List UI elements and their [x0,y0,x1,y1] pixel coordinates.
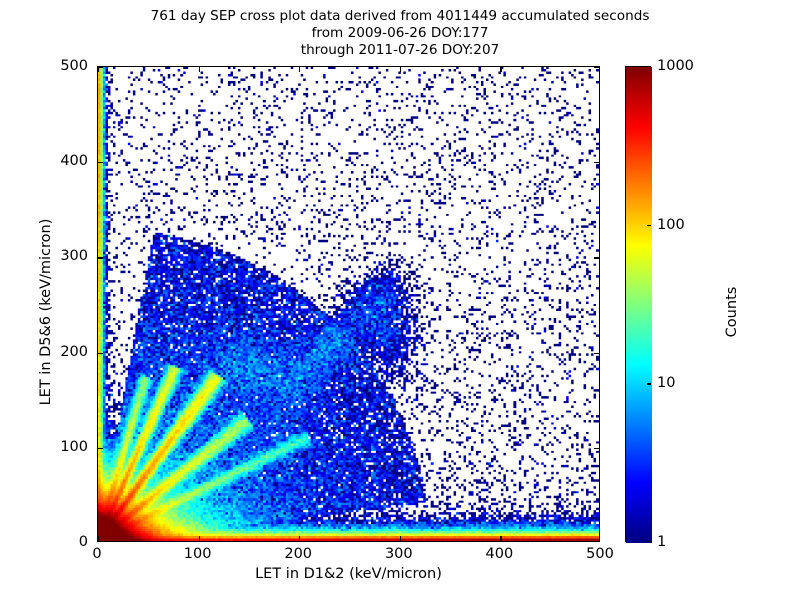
title-line-2: from 2009-06-26 DOY:177 [0,25,800,42]
y-tick-mark [594,257,599,258]
y-tick-label: 0 [0,534,88,550]
colorbar-tick-mark [647,225,651,226]
colorbar-title: Counts [724,212,740,412]
y-tick-mark [98,67,103,68]
x-tick-mark [400,536,401,541]
x-tick-label: 0 [92,546,101,562]
colorbar-tick-label: 10 [657,375,675,391]
y-tick-label: 500 [0,58,88,74]
x-axis-label: LET in D1&2 (keV/micron) [97,566,600,582]
x-tick-mark [299,67,300,72]
y-axis-label: LET in D5&6 (keV/micron) [38,162,54,462]
x-tick-mark [500,67,501,72]
scatter-plot-area [97,66,600,542]
x-tick-mark [400,67,401,72]
x-tick-mark [299,536,300,541]
colorbar [625,66,651,542]
plot-title: 761 day SEP cross plot data derived from… [0,8,800,59]
x-tick-label: 400 [486,546,514,562]
scatter-data-layer [98,67,599,541]
y-tick-mark [98,257,103,258]
figure-canvas: 761 day SEP cross plot data derived from… [0,0,800,600]
x-tick-mark [500,536,501,541]
y-tick-mark [594,448,599,449]
colorbar-tick-label: 1 [657,534,666,550]
y-tick-mark [594,162,599,163]
colorbar-gradient [625,66,651,542]
colorbar-tick-mark [647,383,651,384]
title-line-1: 761 day SEP cross plot data derived from… [0,8,800,25]
y-tick-mark [594,353,599,354]
x-tick-mark [199,536,200,541]
colorbar-canvas [626,67,652,543]
x-tick-label: 100 [184,546,212,562]
x-tick-label: 300 [385,546,413,562]
x-tick-mark [98,536,99,541]
x-tick-label: 200 [284,546,312,562]
x-tick-label: 500 [586,546,614,562]
y-tick-mark [98,448,103,449]
colorbar-tick-mark [647,541,651,542]
x-tick-mark [199,67,200,72]
y-tick-mark [98,162,103,163]
y-tick-mark [594,67,599,68]
colorbar-tick-mark [647,66,651,67]
title-line-3: through 2011-07-26 DOY:207 [0,42,800,59]
y-tick-mark [98,353,103,354]
colorbar-tick-label: 1000 [657,58,694,74]
colorbar-tick-label: 100 [657,217,685,233]
